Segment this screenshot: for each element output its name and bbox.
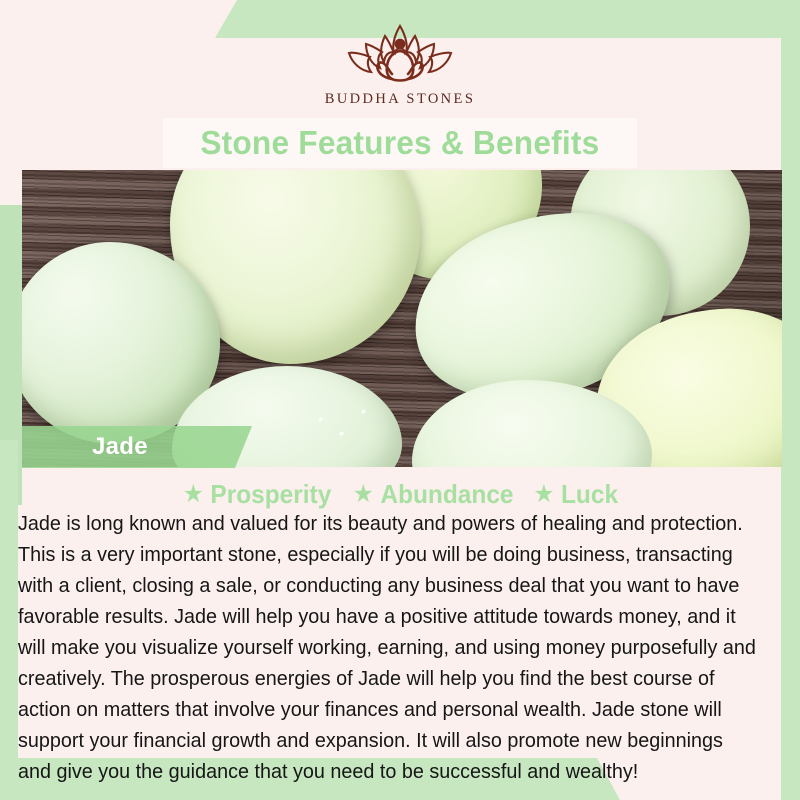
jade-stones-photo bbox=[22, 170, 782, 467]
star-icon: ★ bbox=[534, 482, 555, 507]
stone-name-label: Jade bbox=[22, 433, 148, 461]
sparkle-highlight bbox=[340, 432, 343, 435]
title-banner: Stone Features & Benefits bbox=[163, 118, 637, 168]
brand-name: BUDDHA STONES bbox=[325, 91, 476, 108]
keyword-label: Luck bbox=[561, 479, 618, 510]
keyword-prosperity: ★ Prosperity bbox=[183, 479, 332, 510]
sparkle-highlight bbox=[319, 418, 322, 421]
stone-name-band: Jade bbox=[22, 426, 252, 468]
keyword-abundance: ★ Abundance bbox=[342, 479, 514, 510]
description-block: Jade is long known and valued for its be… bbox=[18, 508, 783, 787]
star-icon: ★ bbox=[183, 482, 204, 507]
keyword-luck: ★ Luck bbox=[523, 479, 619, 510]
sparkle-highlight bbox=[362, 410, 365, 413]
description-text: Jade is long known and valued for its be… bbox=[18, 508, 756, 787]
keyword-row: ★ Prosperity ★ Abundance ★ Luck bbox=[0, 478, 800, 510]
page-title: Stone Features & Benefits bbox=[200, 124, 599, 162]
star-icon: ★ bbox=[353, 482, 374, 507]
keyword-label: Prosperity bbox=[211, 479, 332, 510]
lotus-meditation-icon bbox=[325, 20, 475, 88]
keyword-label: Abundance bbox=[381, 479, 514, 510]
right-edge-accent-bar bbox=[781, 0, 800, 800]
stone-info-card: BUDDHA STONES Stone Features & Benefits … bbox=[0, 0, 800, 800]
brand-header: BUDDHA STONES bbox=[0, 20, 800, 115]
